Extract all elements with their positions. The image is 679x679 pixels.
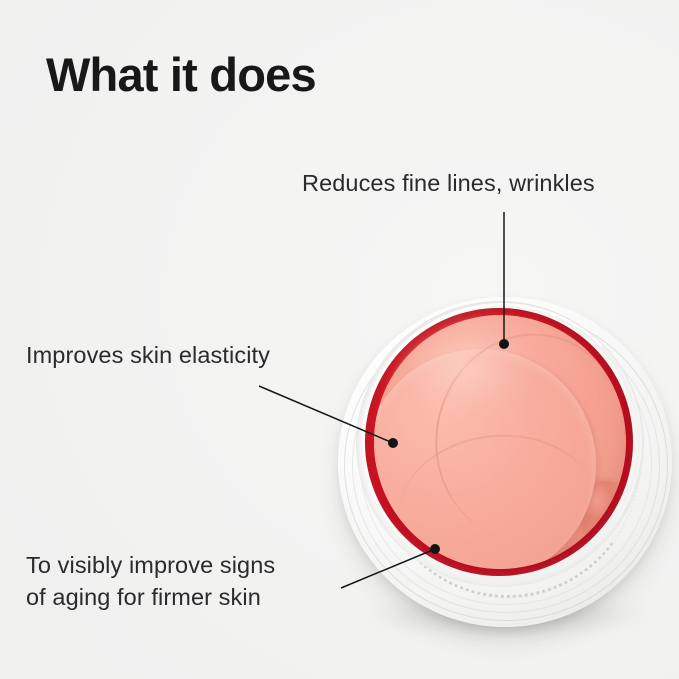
product-jar-image [338,295,672,629]
callout-label-reduces-fine-lines: Reduces fine lines, wrinkles [302,168,595,200]
callout-label-improves-skin-elasticity: Improves skin elasticity [26,340,270,372]
illustration-canvas: What it does Reduces fine lines, wrink [0,0,679,679]
page-title: What it does [46,50,316,100]
callout-label-improve-signs-of-aging: To visibly improve signs of aging for fi… [26,550,275,614]
